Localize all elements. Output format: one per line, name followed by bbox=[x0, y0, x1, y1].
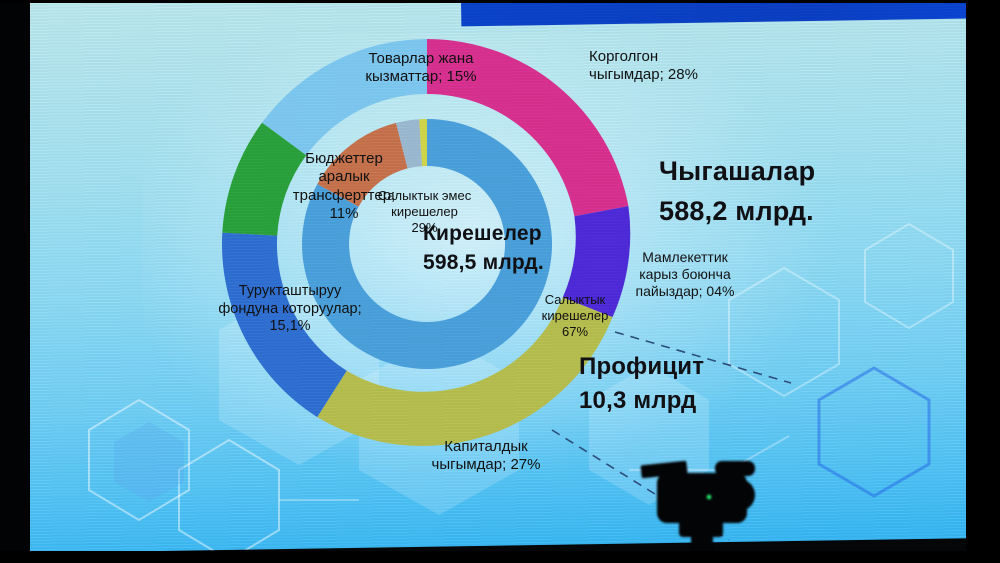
screen-left-edge bbox=[0, 0, 30, 563]
projector-screenshot: Корголгон чыгымдар; 28% Товарлар жана кы… bbox=[0, 0, 1000, 563]
projected-slide: Корголгон чыгымдар; 28% Товарлар жана кы… bbox=[29, 0, 969, 553]
video-camera-silhouette-icon bbox=[619, 449, 787, 563]
screen-scanline-texture bbox=[29, 0, 969, 553]
screen-top-edge bbox=[0, 0, 1000, 3]
screen-bottom-edge bbox=[0, 551, 1000, 563]
screen-right-edge bbox=[966, 0, 1000, 563]
